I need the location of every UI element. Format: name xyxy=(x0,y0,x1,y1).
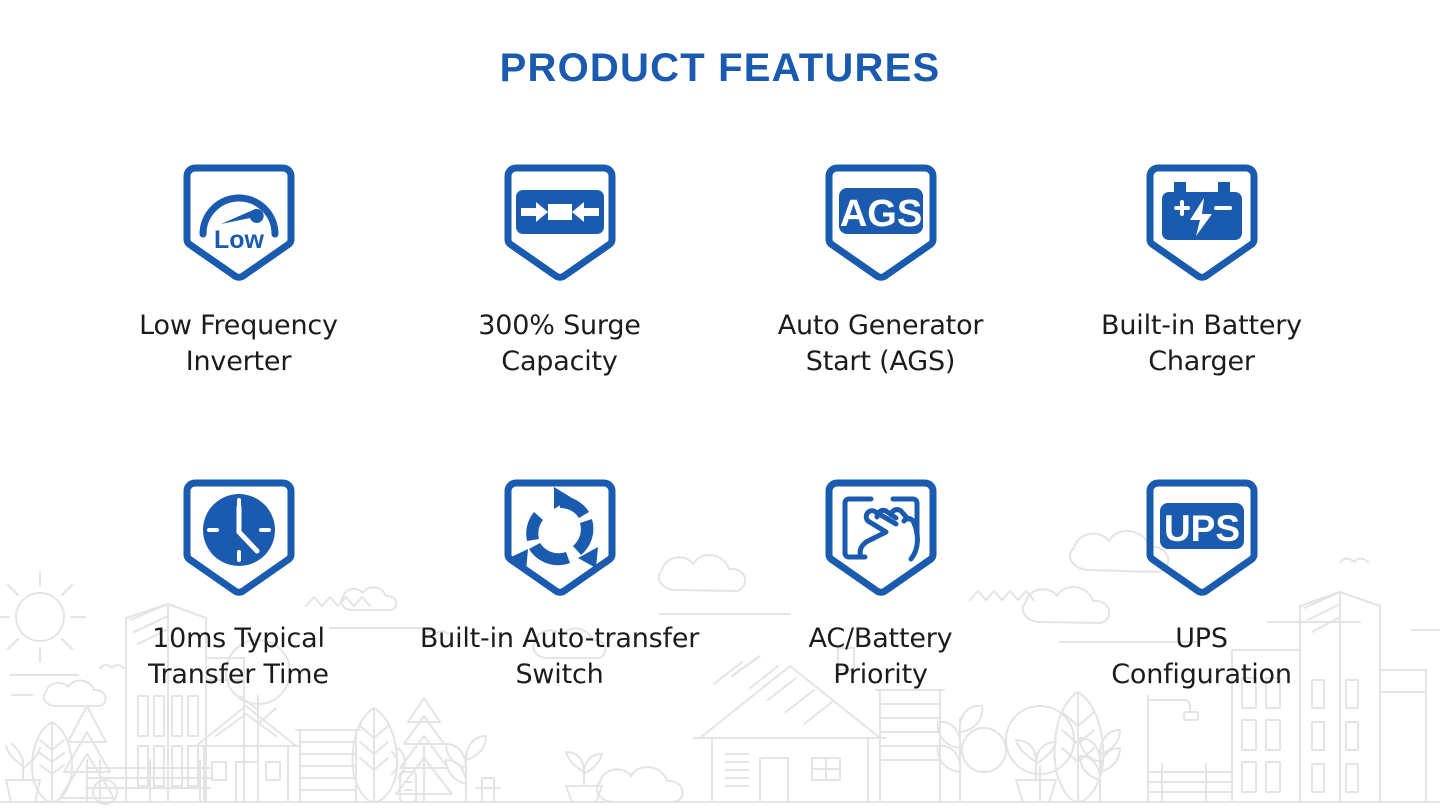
ups-text: UPS xyxy=(1163,508,1239,549)
clock-icon xyxy=(173,475,305,601)
feature-label: Built-in Battery Charger xyxy=(1101,308,1302,379)
touch-hand-priority-icon xyxy=(815,475,947,601)
feature-item[interactable]: Built-in Auto-transfer Switch xyxy=(399,475,720,725)
product-features-page: PRODUCT FEATURES Low Low Frequency Inver… xyxy=(0,0,1440,810)
transfer-switch-arrows-icon xyxy=(494,475,626,601)
svg-text:Low: Low xyxy=(214,226,265,254)
ags-text: AGS xyxy=(839,193,921,235)
ups-badge-icon: UPS xyxy=(1136,475,1268,601)
feature-item[interactable]: UPS UPS Configuration xyxy=(1041,475,1362,725)
surge-arrows-icon xyxy=(494,160,626,286)
feature-item[interactable]: Built-in Battery Charger xyxy=(1041,160,1362,410)
feature-item[interactable]: AGS Auto Generator Start (AGS) xyxy=(720,160,1041,410)
feature-label: Auto Generator Start (AGS) xyxy=(778,308,984,379)
page-title: PRODUCT FEATURES xyxy=(0,46,1440,91)
feature-label: Low Frequency Inverter xyxy=(139,308,338,379)
gauge-low-frequency-icon: Low xyxy=(173,160,305,286)
features-grid: Low Low Frequency Inverter 300% Surge Ca… xyxy=(78,160,1362,725)
feature-label: AC/Battery Priority xyxy=(809,621,953,692)
feature-label: Built-in Auto-transfer Switch xyxy=(420,621,699,692)
feature-label: UPS Configuration xyxy=(1111,621,1292,692)
feature-item[interactable]: AC/Battery Priority xyxy=(720,475,1041,725)
feature-item[interactable]: 300% Surge Capacity xyxy=(399,160,720,410)
feature-item[interactable]: Low Low Frequency Inverter xyxy=(78,160,399,410)
feature-label: 300% Surge Capacity xyxy=(478,308,640,379)
ags-badge-icon: AGS xyxy=(815,160,947,286)
feature-item[interactable]: 10ms Typical Transfer Time xyxy=(78,475,399,725)
feature-label: 10ms Typical Transfer Time xyxy=(148,621,329,692)
battery-charger-icon xyxy=(1136,160,1268,286)
